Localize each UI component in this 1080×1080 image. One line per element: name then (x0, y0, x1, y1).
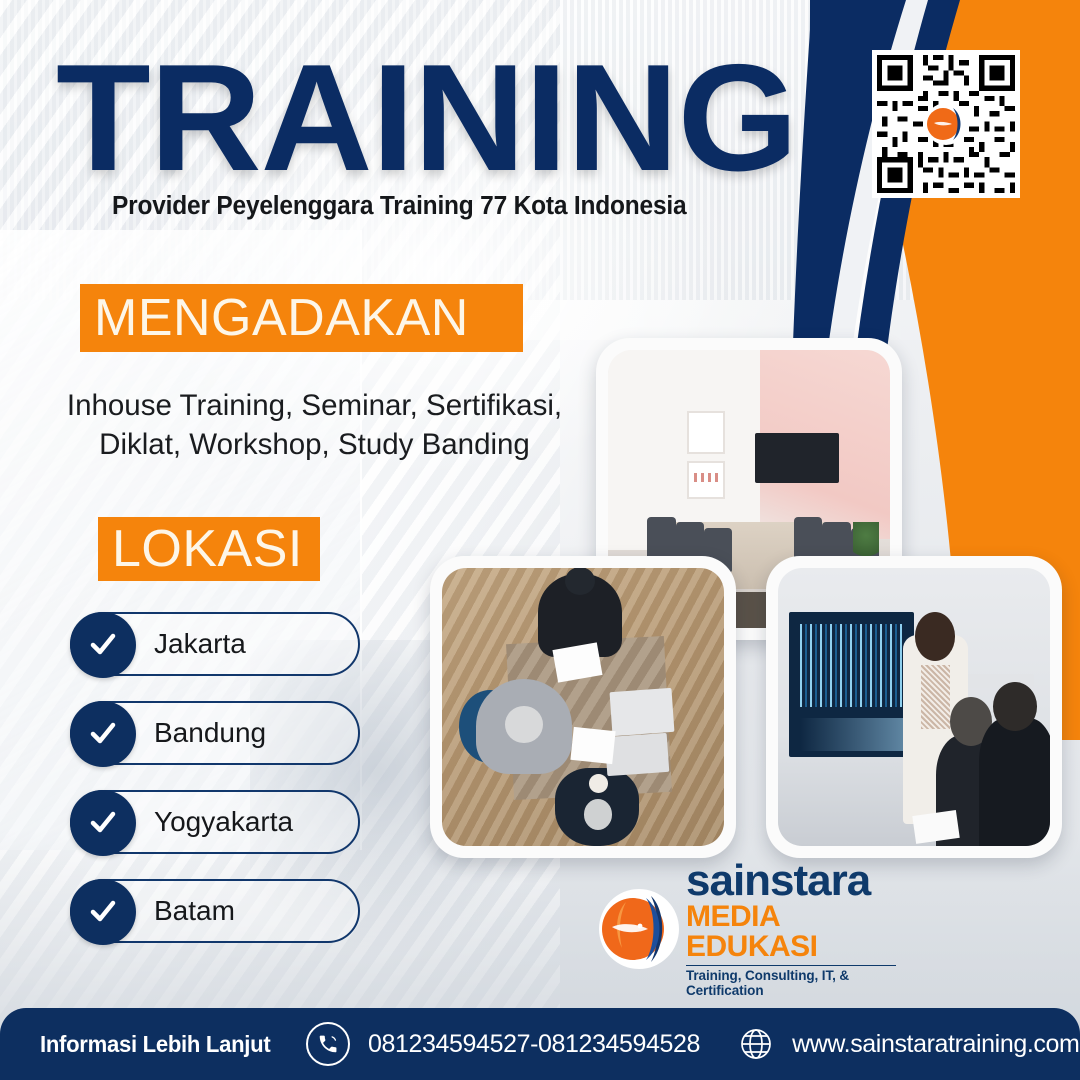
poster-canvas: TRAINING Provider Peyelenggara Training … (0, 0, 1080, 1080)
phone-icon[interactable] (306, 1022, 350, 1066)
location-item-batam[interactable]: Batam (70, 879, 360, 943)
page-title: TRAINING (56, 46, 797, 192)
location-item-bandung[interactable]: Bandung (70, 701, 360, 765)
qr-center-emblem-icon (923, 101, 969, 147)
badge-mengadakan-label: MENGADAKAN (94, 288, 469, 348)
badge-lokasi-label: LOKASI (112, 519, 303, 579)
brand-logo: sainstara MEDIA EDUKASI Training, Consul… (596, 876, 896, 982)
globe-icon (736, 1024, 776, 1064)
location-label: Bandung (154, 717, 266, 749)
check-icon (70, 790, 136, 856)
footer-label: Informasi Lebih Lanjut (40, 1031, 270, 1058)
location-list: Jakarta Bandung Yogyakarta (70, 612, 360, 968)
brand-sub: MEDIA EDUKASI (686, 902, 896, 962)
brand-name: sainstara (686, 860, 896, 902)
badge-lokasi: LOKASI (98, 517, 320, 581)
location-item-yogyakarta[interactable]: Yogyakarta (70, 790, 360, 854)
qr-code[interactable] (872, 50, 1020, 198)
check-icon (70, 879, 136, 945)
photo-card-topdown-meeting (430, 556, 736, 858)
location-item-jakarta[interactable]: Jakarta (70, 612, 360, 676)
footer-bar: Informasi Lebih Lanjut 081234594527-0812… (0, 1008, 1080, 1080)
location-label: Jakarta (154, 628, 246, 660)
footer-website[interactable]: www.sainstaratraining.com (792, 1030, 1079, 1059)
sainstara-flame-emblem-icon (596, 886, 682, 972)
brand-tagline: Training, Consulting, IT, & Certificatio… (686, 965, 896, 998)
check-icon (70, 701, 136, 767)
page-subtitle: Provider Peyelenggara Training 77 Kota I… (112, 192, 686, 221)
photo-topdown-meeting (442, 568, 724, 846)
check-icon (70, 612, 136, 678)
footer-phone[interactable]: 081234594527-081234594528 (368, 1030, 700, 1059)
services-line-2: Diklat, Workshop, Study Banding (52, 425, 577, 464)
services-line-1: Inhouse Training, Seminar, Sertifikasi, (52, 386, 577, 425)
location-label: Batam (154, 895, 235, 927)
photo-card-presenter (766, 556, 1062, 858)
services-text: Inhouse Training, Seminar, Sertifikasi, … (52, 386, 577, 464)
location-label: Yogyakarta (154, 806, 293, 838)
badge-mengadakan: MENGADAKAN (80, 284, 523, 352)
photo-presenter (778, 568, 1050, 846)
